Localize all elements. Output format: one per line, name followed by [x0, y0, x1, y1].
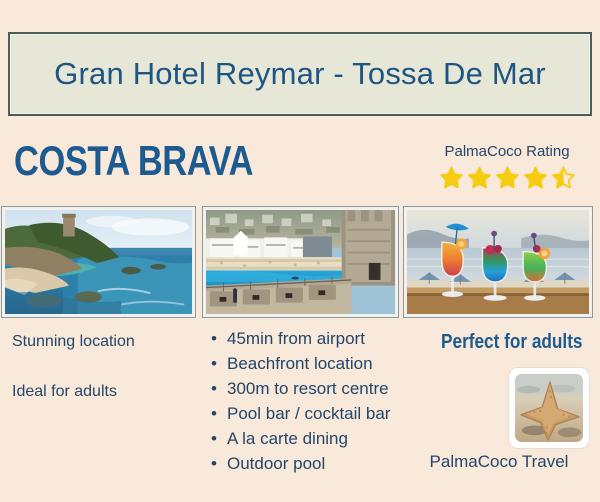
brand-name: PalmaCoco Travel	[404, 452, 594, 472]
left-caption-ideal-for-adults: Ideal for adults	[12, 383, 117, 401]
page-title: Gran Hotel Reymar - Tossa De Mar	[54, 56, 546, 92]
list-item: A la carte dining	[227, 426, 390, 451]
star-icon-full	[438, 164, 465, 191]
star-icon-half	[550, 164, 577, 191]
photo-row	[0, 207, 600, 317]
destination-headline: COSTA BRAVA	[14, 140, 253, 182]
star-icon-full	[522, 164, 549, 191]
list-item: Pool bar / cocktail bar	[227, 401, 390, 426]
cocktails-beach-photo	[404, 207, 592, 317]
star-icon-full	[494, 164, 521, 191]
title-banner: Gran Hotel Reymar - Tossa De Mar	[8, 32, 592, 116]
coastal-cove-photo	[2, 207, 195, 317]
rating-label: PalmaCoco Rating	[432, 143, 582, 160]
starfish-icon	[515, 374, 583, 442]
list-item: Outdoor pool	[227, 451, 390, 476]
rating-block: PalmaCoco Rating	[432, 143, 582, 191]
brand-logo-card	[508, 367, 590, 449]
feature-list: 45min from airport Beachfront location 3…	[205, 326, 390, 476]
star-icon-full	[466, 164, 493, 191]
left-caption-stunning-location: Stunning location	[12, 333, 135, 351]
list-item: Beachfront location	[227, 351, 390, 376]
rating-stars	[432, 164, 582, 191]
tagline-perfect-for-adults: Perfect for adults	[441, 331, 582, 354]
castle-view-beach-photo	[203, 207, 398, 317]
list-item: 45min from airport	[227, 326, 390, 351]
list-item: 300m to resort centre	[227, 376, 390, 401]
